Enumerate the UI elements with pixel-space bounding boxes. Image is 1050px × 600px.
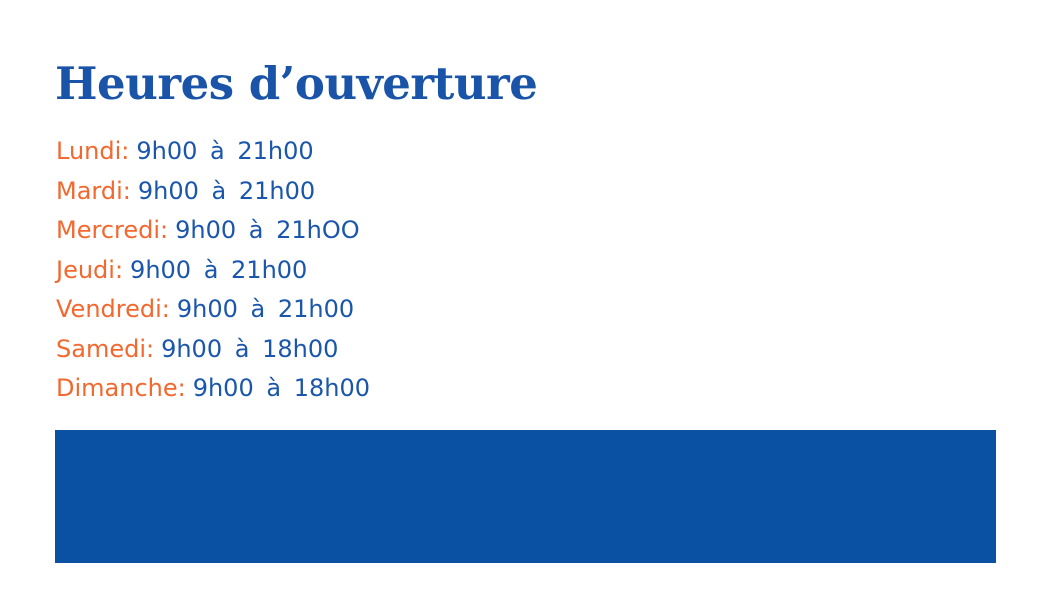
day-label: Samedi: — [56, 335, 154, 363]
list-item: Mardi:9h00 à 21h00 — [56, 172, 756, 212]
time-value: 9h00 à 18h00 — [161, 335, 338, 363]
time-value: 9h00 à 21h00 — [177, 295, 354, 323]
time-value: 9h00 à 18h00 — [193, 374, 370, 402]
day-label: Mardi: — [56, 177, 131, 205]
time-value: 9h00 à 21hOO — [175, 216, 360, 244]
list-item: Jeudi:9h00 à 21h00 — [56, 251, 756, 291]
day-label: Dimanche: — [56, 374, 186, 402]
day-label: Mercredi: — [56, 216, 168, 244]
day-label: Vendredi: — [56, 295, 170, 323]
time-value: 9h00 à 21h00 — [138, 177, 315, 205]
list-item: Vendredi:9h00 à 21h00 — [56, 290, 756, 330]
page-title: Heures d’ouverture — [55, 58, 537, 110]
time-value: 9h00 à 21h00 — [130, 256, 307, 284]
blue-banner-block — [55, 430, 996, 563]
time-value: 9h00 à 21h00 — [136, 137, 313, 165]
list-item: Lundi:9h00 à 21h00 — [56, 132, 756, 172]
day-label: Jeudi: — [56, 256, 123, 284]
list-item: Samedi:9h00 à 18h00 — [56, 330, 756, 370]
slide-canvas: Heures d’ouverture Lundi:9h00 à 21h00 Ma… — [0, 0, 1050, 600]
opening-hours-list: Lundi:9h00 à 21h00 Mardi:9h00 à 21h00 Me… — [56, 132, 756, 409]
day-label: Lundi: — [56, 137, 129, 165]
list-item: Dimanche:9h00 à 18h00 — [56, 369, 756, 409]
list-item: Mercredi:9h00 à 21hOO — [56, 211, 756, 251]
